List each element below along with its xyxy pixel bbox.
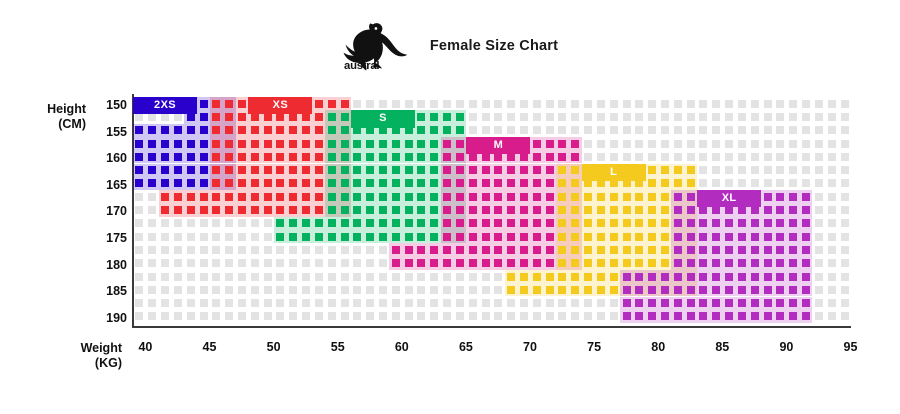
y-axis-title: Height (CM) <box>10 102 86 132</box>
x-tick-label: 45 <box>190 340 230 354</box>
y-axis-title-line2: (CM) <box>10 117 86 132</box>
x-tick-label: 75 <box>574 340 614 354</box>
x-axis-line <box>132 326 851 328</box>
y-tick-label: 160 <box>93 151 127 165</box>
x-tick-label: 80 <box>638 340 678 354</box>
size-label-s: S <box>351 110 415 127</box>
size-chart-plot: 2XSXSSMLXL <box>133 97 851 323</box>
size-label-2xs: 2XS <box>133 97 197 114</box>
x-tick-label: 65 <box>446 340 486 354</box>
y-tick-label: 185 <box>93 284 127 298</box>
x-tick-label: 50 <box>254 340 294 354</box>
y-tick-label: 150 <box>93 98 127 112</box>
austral-kangaroo-logo: austral <box>342 20 414 72</box>
x-tick-label: 40 <box>125 340 165 354</box>
x-tick-label: 90 <box>766 340 806 354</box>
chart-header: austral Female Size Chart <box>0 18 900 74</box>
x-axis-title-line2: (KG) <box>10 356 122 371</box>
x-tick-label: 55 <box>318 340 358 354</box>
y-tick-label: 180 <box>93 258 127 272</box>
x-axis-title: Weight (KG) <box>10 341 122 371</box>
y-tick-label: 155 <box>93 125 127 139</box>
page-title: Female Size Chart <box>430 38 558 54</box>
y-axis-title-line1: Height <box>10 102 86 117</box>
x-tick-label: 95 <box>831 340 871 354</box>
x-axis-title-line1: Weight <box>10 341 122 356</box>
size-label-xl: XL <box>697 190 761 207</box>
size-region-labels: 2XSXSSMLXL <box>133 97 851 323</box>
y-tick-label: 175 <box>93 231 127 245</box>
logo-wordmark: austral <box>344 60 379 72</box>
y-axis-tick-labels: 150155160165170175180185190 <box>91 97 127 323</box>
x-axis-tick-labels: 404550556065707580859095 <box>133 340 873 360</box>
y-tick-label: 170 <box>93 204 127 218</box>
size-label-xs: XS <box>248 97 312 114</box>
y-tick-label: 165 <box>93 178 127 192</box>
size-label-l: L <box>582 164 646 181</box>
y-tick-label: 190 <box>93 311 127 325</box>
x-tick-label: 70 <box>510 340 550 354</box>
size-label-m: M <box>466 137 530 154</box>
x-tick-label: 85 <box>702 340 742 354</box>
x-tick-label: 60 <box>382 340 422 354</box>
